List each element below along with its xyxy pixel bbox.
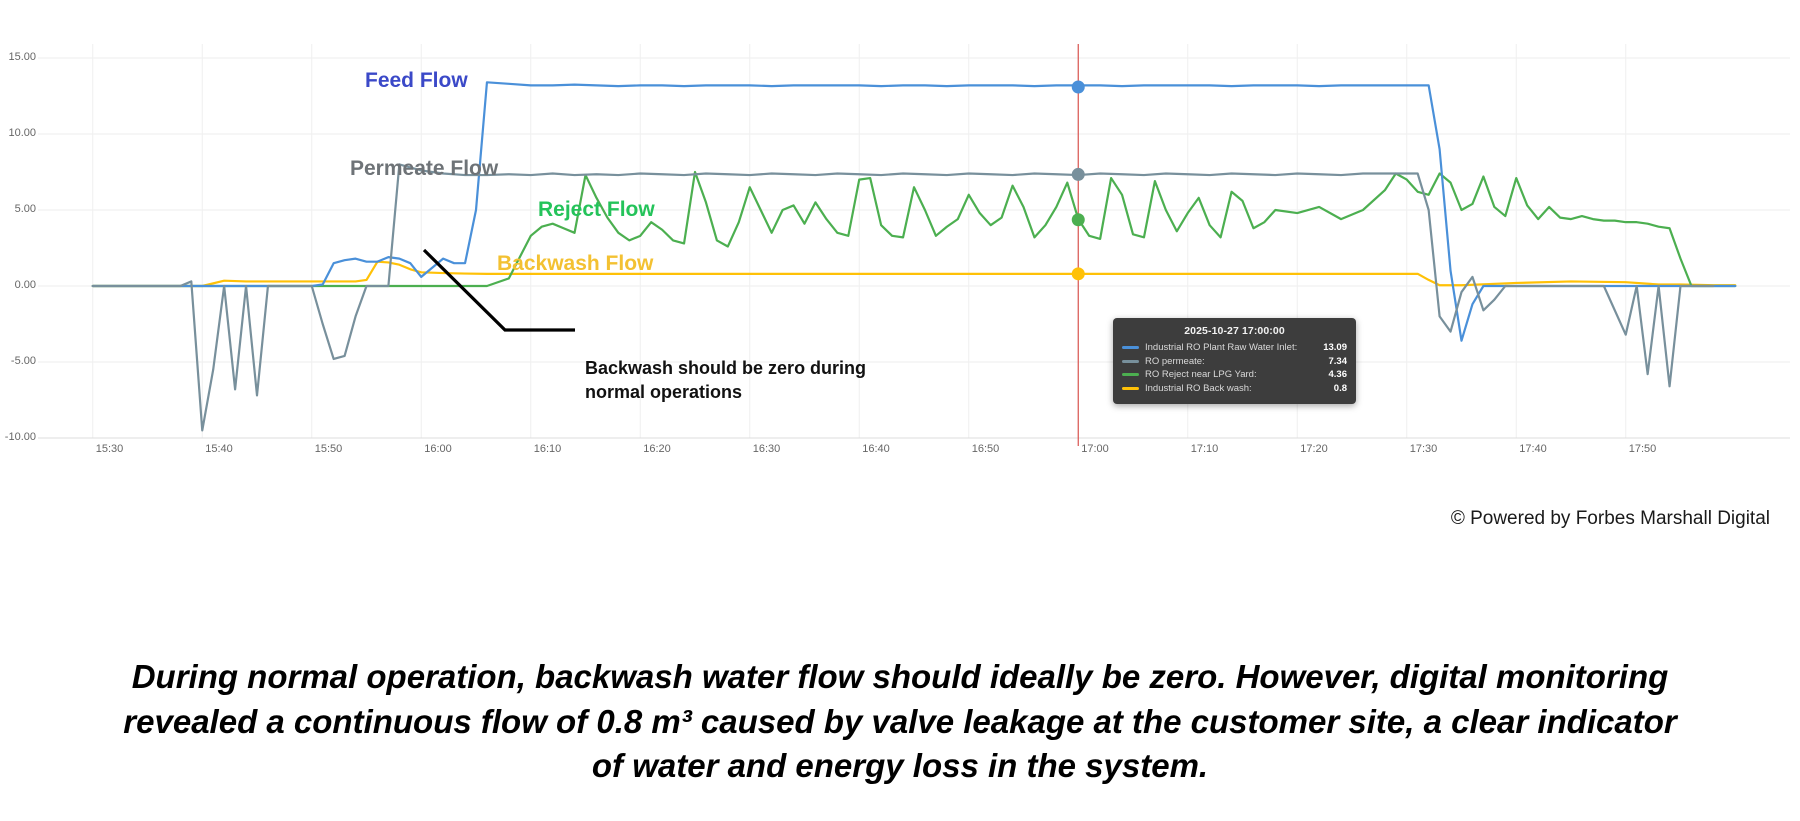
tooltip-timestamp: 2025-10-27 17:00:00 bbox=[1122, 325, 1347, 337]
tooltip-series-name: Industrial RO Back wash: bbox=[1145, 383, 1328, 394]
tooltip-series-color-swatch bbox=[1122, 346, 1139, 349]
x-axis-tick: 15:40 bbox=[205, 443, 233, 455]
cursor-marker-permeate-flow bbox=[1072, 168, 1085, 181]
x-axis-tick: 17:30 bbox=[1410, 443, 1438, 455]
x-axis-tick: 17:20 bbox=[1300, 443, 1328, 455]
flow-trend-chart[interactable]: 15.0010.005.000.00-5.00-10.00 15:3015:40… bbox=[0, 0, 1800, 470]
tooltip-row: Industrial RO Back wash:0.8 bbox=[1122, 383, 1347, 394]
screenshot-root: 15.0010.005.000.00-5.00-10.00 15:3015:40… bbox=[0, 0, 1800, 821]
cursor-marker-backwash-flow bbox=[1072, 267, 1085, 280]
x-axis-tick: 16:10 bbox=[534, 443, 562, 455]
y-axis-tick: -10.00 bbox=[0, 431, 36, 443]
tooltip-series-color-swatch bbox=[1122, 373, 1139, 376]
powered-by-label: © Powered by Forbes Marshall Digital bbox=[1451, 508, 1770, 530]
cursor-marker-feed-flow bbox=[1072, 81, 1085, 94]
tooltip-series-name: RO Reject near LPG Yard: bbox=[1145, 369, 1323, 380]
x-axis-tick: 17:40 bbox=[1519, 443, 1547, 455]
tooltip-series-name: RO permeate: bbox=[1145, 356, 1323, 367]
cursor-marker-reject-flow bbox=[1072, 213, 1085, 226]
callout-annotation-text: Backwash should be zero during normal op… bbox=[585, 357, 915, 405]
x-axis-tick: 15:30 bbox=[96, 443, 124, 455]
series-label-feed-flow: Feed Flow bbox=[365, 69, 468, 93]
x-axis-tick: 16:30 bbox=[753, 443, 781, 455]
series-label-backwash-flow: Backwash Flow bbox=[497, 252, 653, 276]
series-label-permeate-flow: Permeate Flow bbox=[350, 157, 498, 181]
series-line-feed-flow bbox=[93, 82, 1736, 340]
y-axis-tick: -5.00 bbox=[0, 355, 36, 367]
tooltip-series-value: 13.09 bbox=[1323, 342, 1347, 353]
series-line-backwash-flow bbox=[93, 262, 1736, 286]
figure-caption: During normal operation, backwash water … bbox=[120, 655, 1680, 789]
y-axis-tick: 5.00 bbox=[0, 203, 36, 215]
tooltip-row: RO permeate:7.34 bbox=[1122, 356, 1347, 367]
y-axis-tick: 10.00 bbox=[0, 127, 36, 139]
tooltip-series-rows: Industrial RO Plant Raw Water Inlet:13.0… bbox=[1122, 342, 1347, 394]
tooltip-series-value: 7.34 bbox=[1329, 356, 1348, 367]
tooltip-row: Industrial RO Plant Raw Water Inlet:13.0… bbox=[1122, 342, 1347, 353]
tooltip-series-name: Industrial RO Plant Raw Water Inlet: bbox=[1145, 342, 1317, 353]
x-axis-tick: 16:50 bbox=[972, 443, 1000, 455]
tooltip-series-color-swatch bbox=[1122, 360, 1139, 363]
x-axis-tick: 15:50 bbox=[315, 443, 343, 455]
callout-line-2: normal operations bbox=[585, 381, 915, 405]
tooltip-series-value: 0.8 bbox=[1334, 383, 1347, 394]
x-axis-tick: 16:00 bbox=[424, 443, 452, 455]
x-axis-tick: 17:00 bbox=[1081, 443, 1109, 455]
chart-tooltip: 2025-10-27 17:00:00 Industrial RO Plant … bbox=[1113, 318, 1356, 404]
tooltip-row: RO Reject near LPG Yard:4.36 bbox=[1122, 369, 1347, 380]
tooltip-series-color-swatch bbox=[1122, 387, 1139, 390]
tooltip-series-value: 4.36 bbox=[1329, 369, 1348, 380]
y-axis-tick: 15.00 bbox=[0, 51, 36, 63]
x-axis-tick: 17:10 bbox=[1191, 443, 1219, 455]
series-label-reject-flow: Reject Flow bbox=[538, 198, 655, 222]
y-axis-tick: 0.00 bbox=[0, 279, 36, 291]
x-axis-tick: 16:20 bbox=[643, 443, 671, 455]
callout-line-1: Backwash should be zero during bbox=[585, 357, 915, 381]
x-axis-tick: 17:50 bbox=[1629, 443, 1657, 455]
series-line-reject-flow bbox=[93, 172, 1736, 286]
x-axis-tick: 16:40 bbox=[862, 443, 890, 455]
